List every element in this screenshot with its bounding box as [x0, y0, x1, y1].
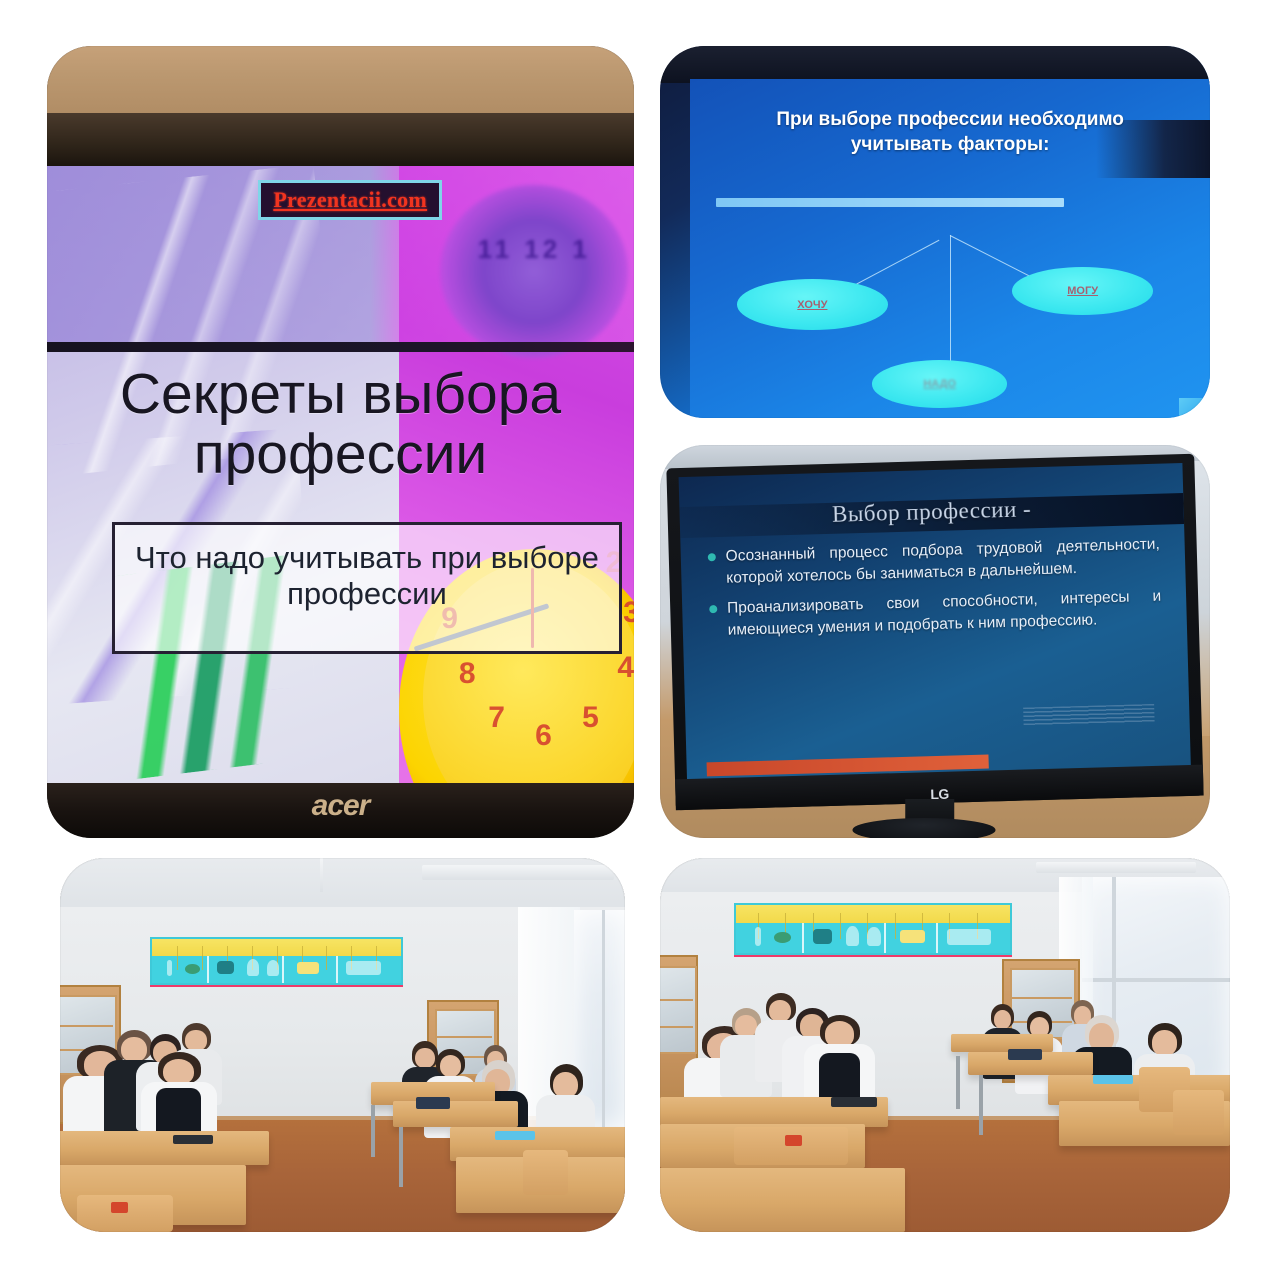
panel-factors-slide[interactable]: При выборе профессии необходимо учитыват…	[660, 46, 1210, 418]
student-head	[994, 1010, 1011, 1029]
bag-on-desk	[1008, 1049, 1042, 1060]
factor-node-mogu[interactable]: МОГУ	[1012, 267, 1152, 314]
poster-icon-2	[774, 932, 790, 943]
classroom-scene-wide	[60, 858, 625, 1232]
phone-on-desk	[173, 1135, 213, 1144]
clock-number-5: 5	[582, 701, 599, 735]
clock-number-6: 6	[535, 719, 552, 753]
desk-leg-1	[371, 1105, 375, 1157]
pen-on-desk	[495, 1131, 535, 1140]
lg-bullet-1: Осознанный процесс подбора трудовой деят…	[705, 534, 1160, 591]
factors-bezel-top	[660, 46, 1210, 83]
window-frame-horizontal	[1082, 978, 1230, 982]
poster-icon-5	[867, 927, 881, 945]
acer-screen: 11 12 1 9 8 7 6 5 4 3 2 Prezentacii.com …	[47, 166, 634, 784]
clock-number-8: 8	[459, 657, 476, 691]
poster-icon-7	[346, 961, 381, 975]
desk-foreground	[660, 1168, 905, 1232]
prezentacii-watermark[interactable]: Prezentacii.com	[258, 180, 442, 220]
student-head	[185, 1030, 206, 1051]
window-frame-vertical	[602, 910, 605, 1127]
desk-leg-1	[956, 1056, 960, 1108]
poster-icon-5	[267, 960, 279, 976]
poster-icon-7	[947, 929, 991, 945]
lg-monitor-body: Выбор профессии - Осознанный процесс под…	[666, 453, 1203, 810]
photo-collage: 11 12 1 9 8 7 6 5 4 3 2 Prezentacii.com …	[0, 0, 1280, 1280]
wall-poster-strip	[734, 903, 1012, 956]
panel-classroom-close[interactable]	[660, 858, 1230, 1232]
acer-bezel-bottom: acer	[47, 783, 634, 838]
poster-icon-4	[846, 926, 860, 945]
desk-leg-2	[399, 1127, 403, 1187]
factor-node-nado[interactable]: НАДО	[872, 360, 1007, 407]
slide-subtitle-line-2: профессии	[130, 576, 605, 613]
chair-right	[523, 1150, 568, 1195]
factors-title-line-1: При выборе профессии необходимо	[721, 107, 1178, 133]
ceiling-light-fixture	[1036, 862, 1196, 873]
chair-left	[77, 1195, 173, 1232]
slide-title: Секреты выбора профессии	[65, 364, 617, 485]
factors-title-line-2: учитывать факторы:	[721, 132, 1178, 158]
factor-node-hochu[interactable]: ХОЧУ	[737, 279, 888, 330]
lg-slide-bullets: Осознанный процесс подбора трудовой деят…	[705, 534, 1162, 651]
poster-icon-3	[217, 961, 234, 974]
factors-title: При выборе профессии необходимо учитыват…	[721, 107, 1178, 158]
chair-right-2	[1173, 1090, 1224, 1135]
slide-title-line-2: профессии	[65, 424, 617, 484]
panel-acer-title-slide[interactable]: 11 12 1 9 8 7 6 5 4 3 2 Prezentacii.com …	[47, 46, 634, 838]
clock-number-4: 4	[617, 651, 634, 685]
lg-screen: Выбор профессии - Осознанный процесс под…	[678, 462, 1191, 784]
wall-behind-monitor	[47, 46, 634, 117]
classroom-scene-close	[660, 858, 1230, 1232]
wall-poster-strip	[150, 937, 403, 986]
slide-subtitle-line-1: Что надо учитывать при выборе	[130, 540, 605, 577]
bag-on-desk	[416, 1097, 450, 1108]
slide-corner-accent	[1179, 398, 1210, 418]
desk-sticker	[111, 1202, 128, 1213]
poster-yellow-band	[736, 905, 1010, 923]
lg-stand-base	[853, 818, 996, 838]
desk-sticker	[785, 1135, 802, 1146]
student-head	[440, 1055, 461, 1077]
student-head	[163, 1059, 195, 1085]
clock-number-7: 7	[488, 701, 505, 735]
lg-bullet-2: Проанализировать свои способности, интер…	[707, 586, 1162, 643]
desk-front-left	[60, 1131, 269, 1165]
slide-subtitle: Что надо учитывать при выборе профессии	[130, 540, 605, 613]
clock-digits-blurred: 11 12 1	[458, 234, 611, 308]
poster-icon-6	[297, 962, 319, 974]
factor-node-hochu-label: ХОЧУ	[797, 299, 827, 311]
prezentacii-watermark-text: Prezentacii.com	[273, 187, 427, 212]
pen-on-desk	[1093, 1075, 1133, 1084]
ceiling-light-fixture	[422, 865, 614, 880]
slide-subtitle-box: Что надо учитывать при выборе профессии	[112, 522, 623, 655]
factor-node-mogu-label: МОГУ	[1067, 285, 1098, 297]
factor-node-nado-label: НАДО	[923, 378, 956, 390]
phone-on-desk	[831, 1097, 877, 1106]
poster-icon-6	[900, 930, 925, 943]
factors-screen: При выборе профессии необходимо учитыват…	[690, 79, 1210, 418]
poster-icon-3	[813, 929, 832, 944]
poster-icon-1	[167, 960, 172, 976]
clock-number-3: 3	[623, 596, 634, 630]
slide-title-line-1: Секреты выбора	[65, 364, 617, 424]
acer-bezel-top	[47, 113, 634, 172]
poster-icon-4	[247, 959, 259, 976]
poster-icon-2	[185, 964, 200, 974]
poster-icon-1	[755, 927, 760, 945]
desk-leg-2	[979, 1075, 983, 1135]
factors-accent-bar	[716, 198, 1064, 207]
student-head	[1152, 1030, 1177, 1055]
desk-middle-right	[393, 1101, 517, 1127]
ceiling-lamp-cable	[320, 858, 323, 892]
panel-lg-definition-slide[interactable]: Выбор профессии - Осознанный процесс под…	[660, 445, 1210, 838]
slide-divider-rule	[47, 342, 634, 352]
acer-logo: acer	[312, 789, 370, 823]
panel-classroom-wide[interactable]	[60, 858, 625, 1232]
lg-slide-footnote-blurred	[1023, 703, 1155, 725]
